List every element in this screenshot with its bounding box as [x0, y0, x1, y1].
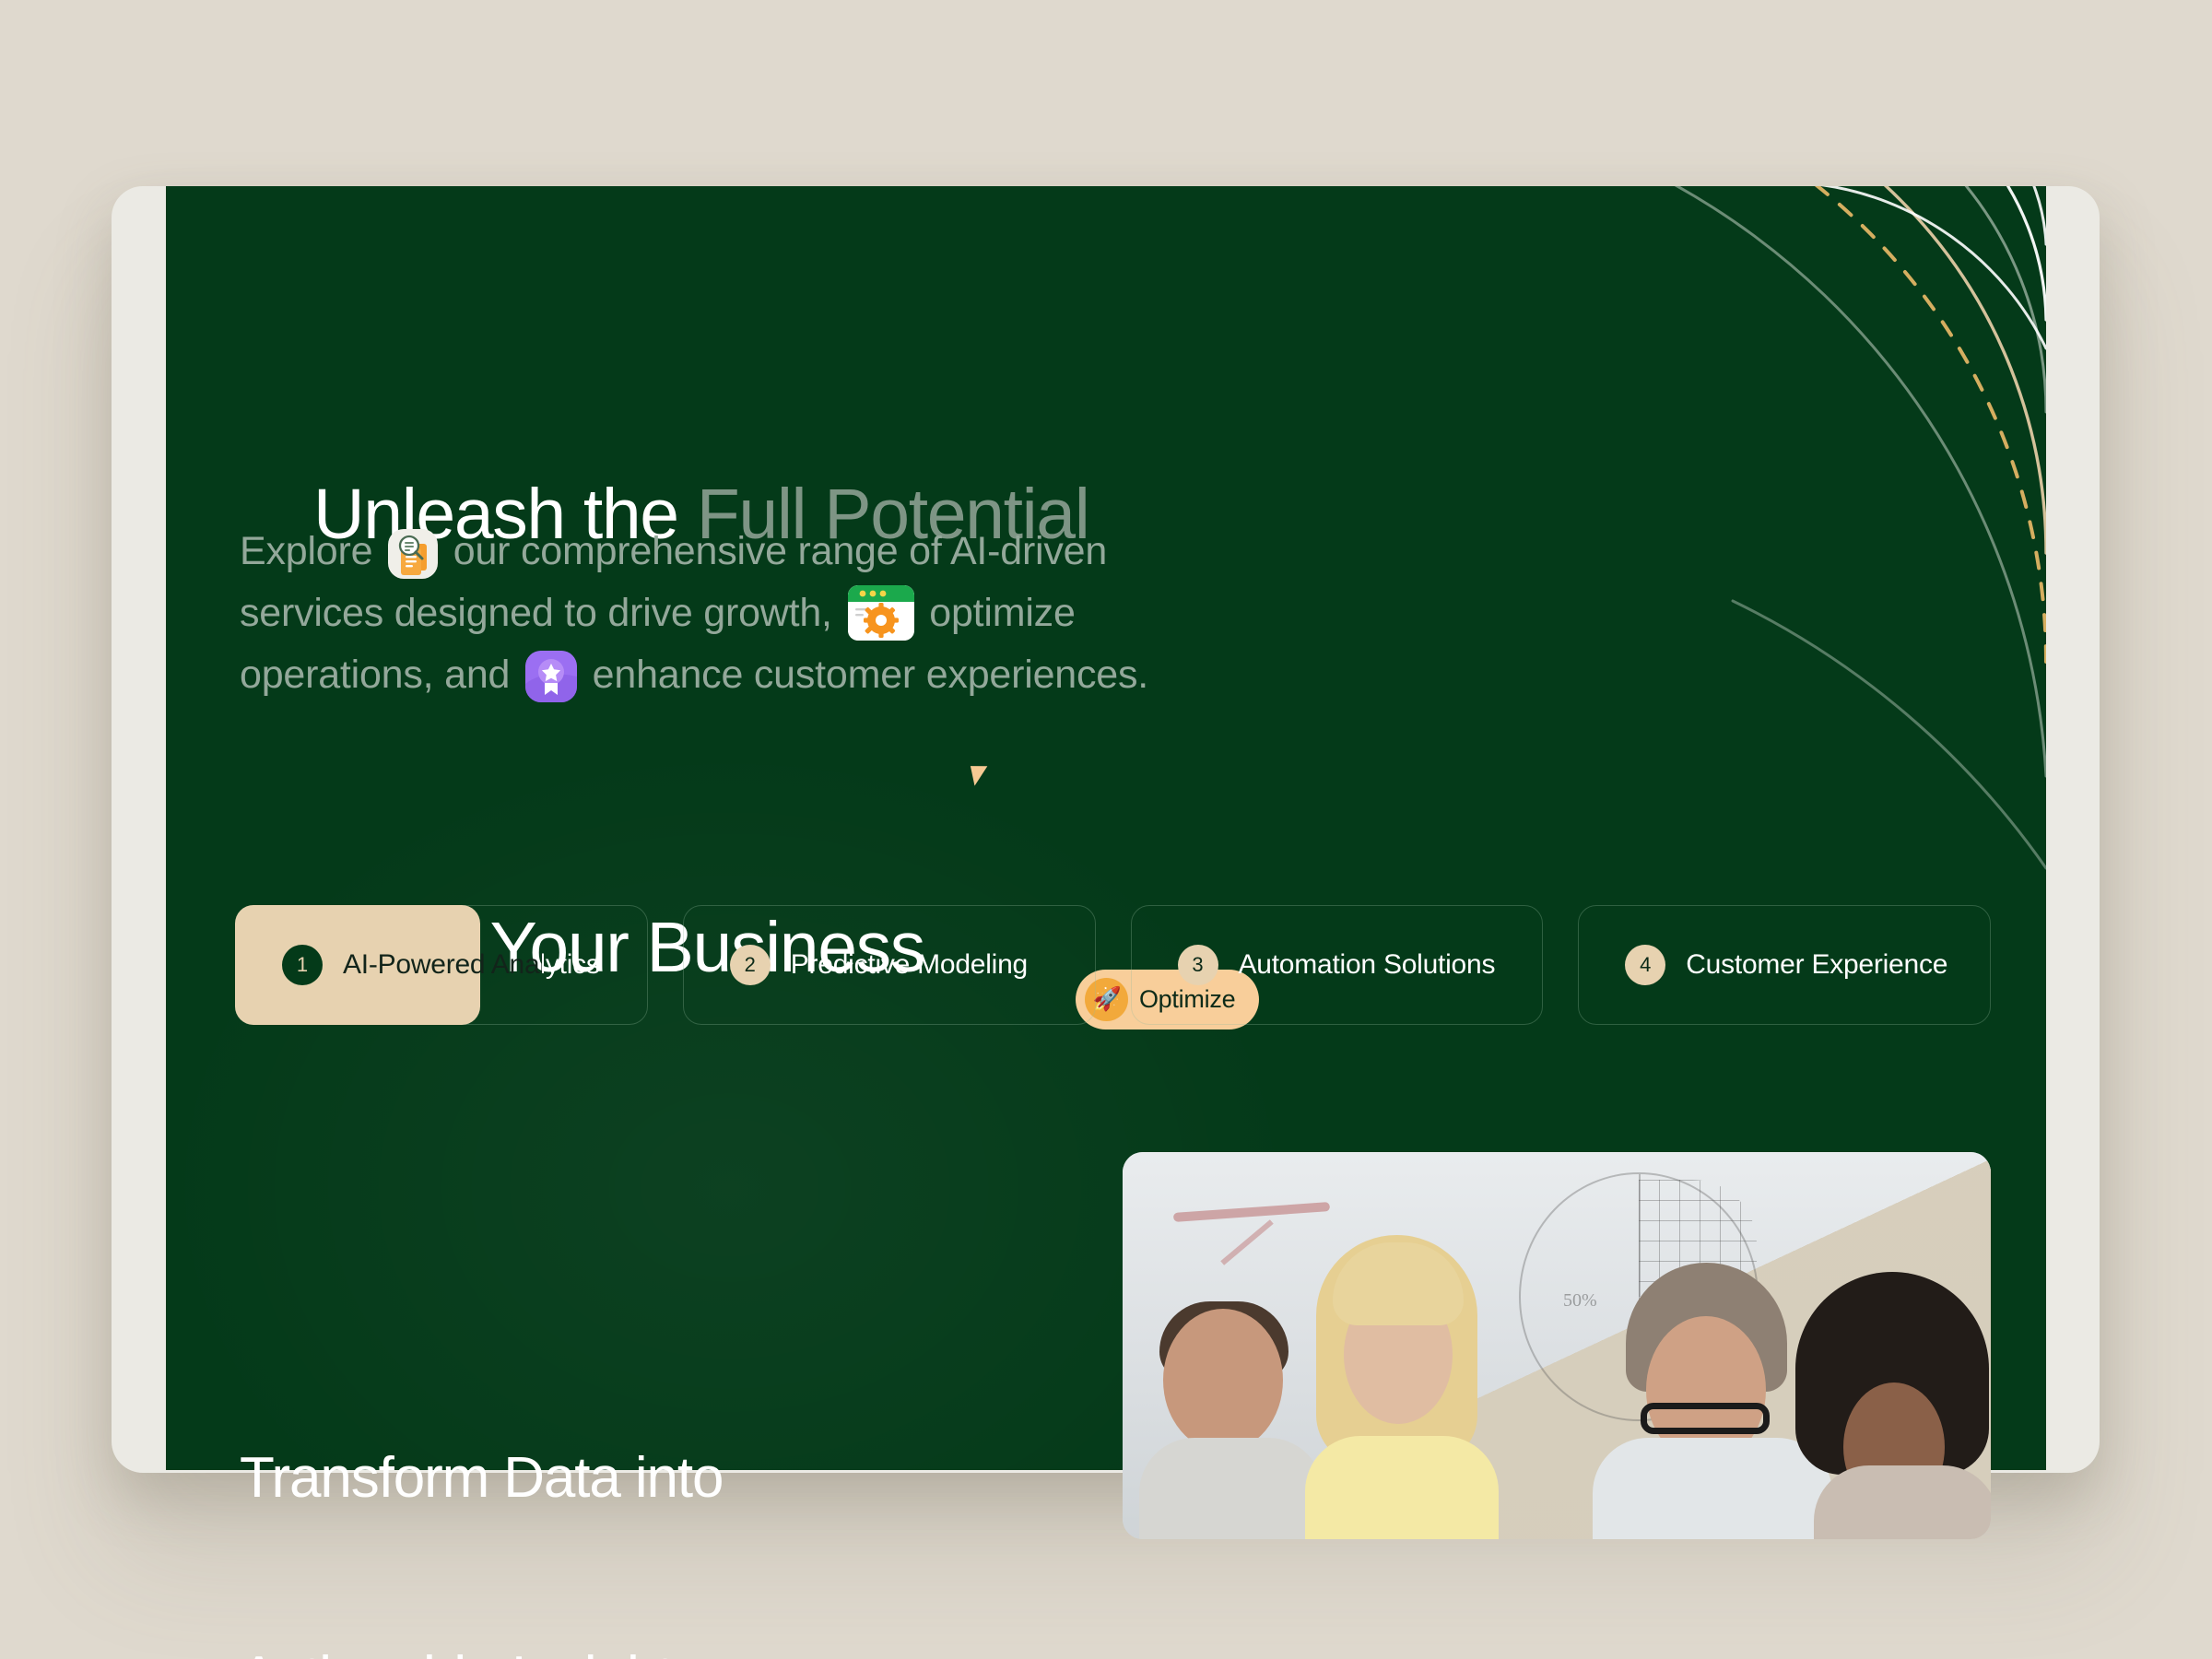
award-badge-icon [525, 651, 577, 702]
tab-label: Predictive Modeling [791, 949, 1028, 981]
section-heading-line-1: Transform Data into [240, 1445, 723, 1512]
tab-number-badge: 4 [1625, 945, 1665, 985]
person-two-body [1305, 1436, 1499, 1539]
paragraph-part-1: Explore [240, 529, 383, 573]
concentric-arcs-decoration [1124, 186, 2046, 924]
tab-predictive-modeling[interactable]: 2 Predictive Modeling [683, 905, 1096, 1025]
tab-number-badge: 2 [730, 945, 771, 985]
section-heading: Transform Data into Actionable Insights [240, 1312, 723, 1659]
tab-label: Automation Solutions [1239, 949, 1496, 981]
cursor-pointer-icon [971, 762, 991, 785]
browser-gear-icon [848, 585, 914, 641]
document-search-icon [388, 529, 438, 579]
tab-label: Customer Experience [1686, 949, 1947, 981]
tab-number-badge: 1 [282, 945, 323, 985]
person-one-head [1163, 1309, 1283, 1452]
tab-label: AI-Powered Analytics [343, 949, 600, 981]
hero-paragraph: Explore our comprehensive range of AI-dr… [240, 521, 1221, 706]
person-two [1288, 1235, 1519, 1539]
service-tabs: 1 AI-Powered Analytics 2 Predictive Mode… [235, 905, 1991, 1025]
tab-ai-powered-analytics[interactable]: 1 AI-Powered Analytics [235, 905, 648, 1025]
paragraph-part-4: enhance customer experiences. [582, 653, 1148, 697]
tab-customer-experience[interactable]: 4 Customer Experience [1578, 905, 1991, 1025]
tab-number-badge: 3 [1178, 945, 1218, 985]
section-heading-line-2: Actionable Insights [240, 1644, 723, 1659]
hero-headline: Unleash the Full Potential of AI for You… [240, 241, 1259, 1186]
team-photo: 50% [1123, 1152, 1991, 1539]
tab-automation-solutions[interactable]: 3 Automation Solutions [1131, 905, 1544, 1025]
person-four-body [1814, 1465, 1991, 1539]
person-four [1786, 1272, 1991, 1539]
person-three-glasses [1641, 1403, 1770, 1434]
